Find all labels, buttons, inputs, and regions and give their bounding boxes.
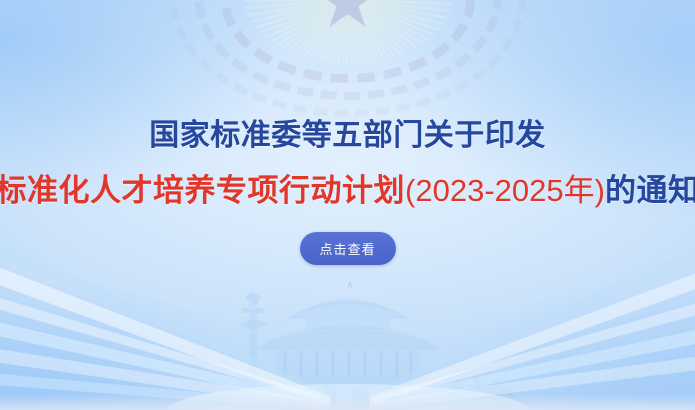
view-details-button[interactable]: 点击查看 xyxy=(300,232,396,265)
banner-title-plan-name: 标准化人才培养专项行动计划 xyxy=(0,173,405,208)
banner-title-line-1: 国家标准委等五部门关于印发 xyxy=(149,121,546,151)
banner-title-year-range: (2023-2025年) xyxy=(405,173,605,208)
banner-content: 国家标准委等五部门关于印发 标准化人才培养专项行动计划(2023-2025年)的… xyxy=(0,0,695,410)
banner-title-notice-suffix: 的通知 xyxy=(605,173,695,208)
banner-title-line-2: 标准化人才培养专项行动计划(2023-2025年)的通知 xyxy=(0,175,695,206)
promo-banner: 国家标准委等五部门关于印发 标准化人才培养专项行动计划(2023-2025年)的… xyxy=(0,0,695,410)
